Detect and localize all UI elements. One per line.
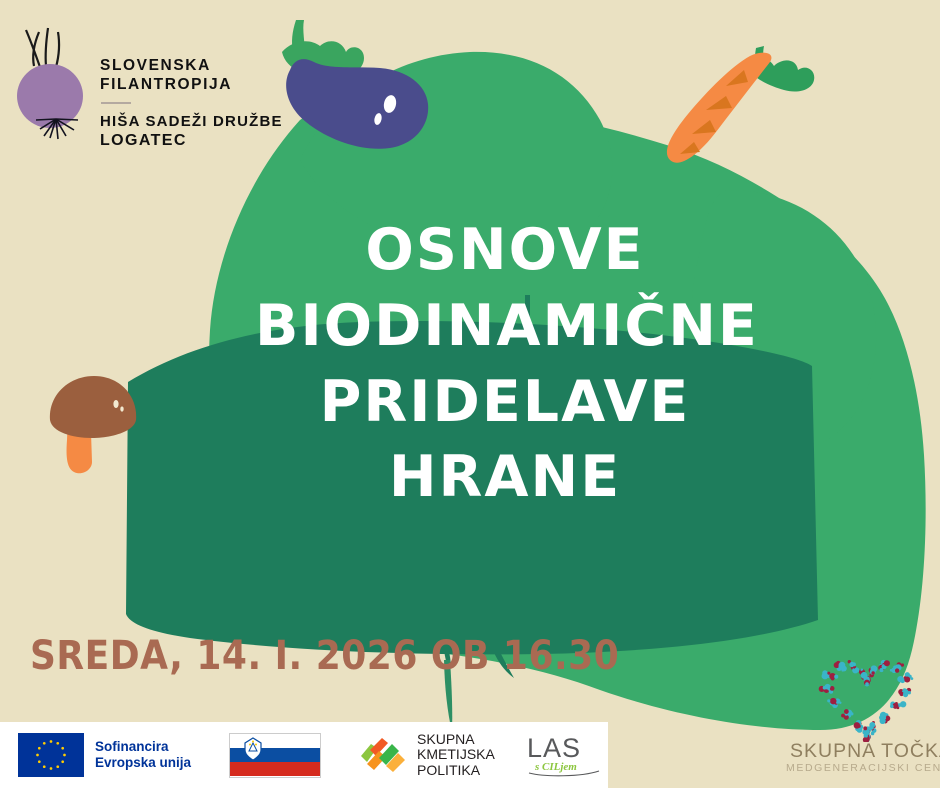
page-title: OSNOVE BIODINAMIČNE PRIDELAVE HRANE bbox=[255, 213, 755, 516]
organisation-logo: SLOVENSKA FILANTROPIJA HIŠA SADEŽI DRUŽB… bbox=[12, 24, 277, 159]
eu-funding-label: Sofinancira Evropska unija bbox=[95, 739, 191, 771]
skp-label-line-1: SKUPNA bbox=[417, 732, 495, 748]
logo-line-slovenska: SLOVENSKA bbox=[100, 56, 283, 75]
coloured-bars-icon bbox=[357, 734, 409, 776]
eggplant-illustration bbox=[258, 12, 458, 157]
title-line-4: HRANE bbox=[255, 440, 755, 516]
organisation-logo-text: SLOVENSKA FILANTROPIJA HIŠA SADEŽI DRUŽB… bbox=[100, 56, 283, 150]
skupna-kmetijska-politika-logo: SKUPNA KMETIJSKA POLITIKA bbox=[357, 732, 495, 779]
title-line-3: PRIDELAVE bbox=[255, 365, 755, 441]
funding-logos-strip: Sofinancira Evropska unija bbox=[0, 722, 608, 788]
title-line-1: OSNOVE bbox=[255, 213, 755, 289]
event-datetime: SREDA, 14. I. 2026 OB 16.30 bbox=[30, 633, 619, 679]
logo-divider bbox=[101, 102, 131, 104]
eu-funding-logo: Sofinancira Evropska unija bbox=[18, 733, 191, 777]
title-line-2: BIODINAMIČNE bbox=[255, 289, 755, 365]
eu-flag-icon bbox=[18, 733, 84, 777]
skp-label-line-3: POLITIKA bbox=[417, 763, 495, 779]
eu-label-line-2: Evropska unija bbox=[95, 755, 191, 771]
skp-label-line-2: KMETIJSKA bbox=[417, 747, 495, 763]
skupna-tocka-logo: SKUPNA TOČKA MEDGENERACIJSKI CENTER bbox=[790, 652, 940, 788]
logo-line-filantropija: FILANTROPIJA bbox=[100, 75, 283, 94]
slovenia-flag-icon bbox=[229, 733, 321, 778]
logo-line-logatec: LOGATEC bbox=[100, 131, 283, 150]
logo-line-hisa: HIŠA SADEŽI DRUŽBE bbox=[100, 112, 283, 131]
las-sub-text: s CILjem bbox=[534, 761, 577, 773]
skupna-tocka-subtitle: MEDGENERACIJSKI CENTER bbox=[786, 762, 940, 774]
mushroom-illustration bbox=[30, 358, 165, 483]
poster-canvas: SLOVENSKA FILANTROPIJA HIŠA SADEŽI DRUŽB… bbox=[0, 0, 940, 788]
slovenia-flag-logo bbox=[229, 733, 321, 778]
las-logo-icon: LAS s CILjem bbox=[525, 732, 603, 778]
skp-label: SKUPNA KMETIJSKA POLITIKA bbox=[417, 732, 495, 779]
eu-label-line-1: Sofinancira bbox=[95, 739, 191, 755]
slovenia-crest-icon bbox=[243, 737, 263, 761]
purple-onion-icon bbox=[12, 24, 92, 144]
carrot-illustration bbox=[650, 18, 830, 193]
las-main-text: LAS bbox=[527, 733, 581, 763]
las-s-ciljem-logo: LAS s CILjem bbox=[525, 732, 603, 778]
si-band-red bbox=[230, 762, 320, 776]
dotted-heart-icon bbox=[802, 652, 932, 742]
skupna-tocka-name: SKUPNA TOČKA bbox=[790, 740, 940, 763]
